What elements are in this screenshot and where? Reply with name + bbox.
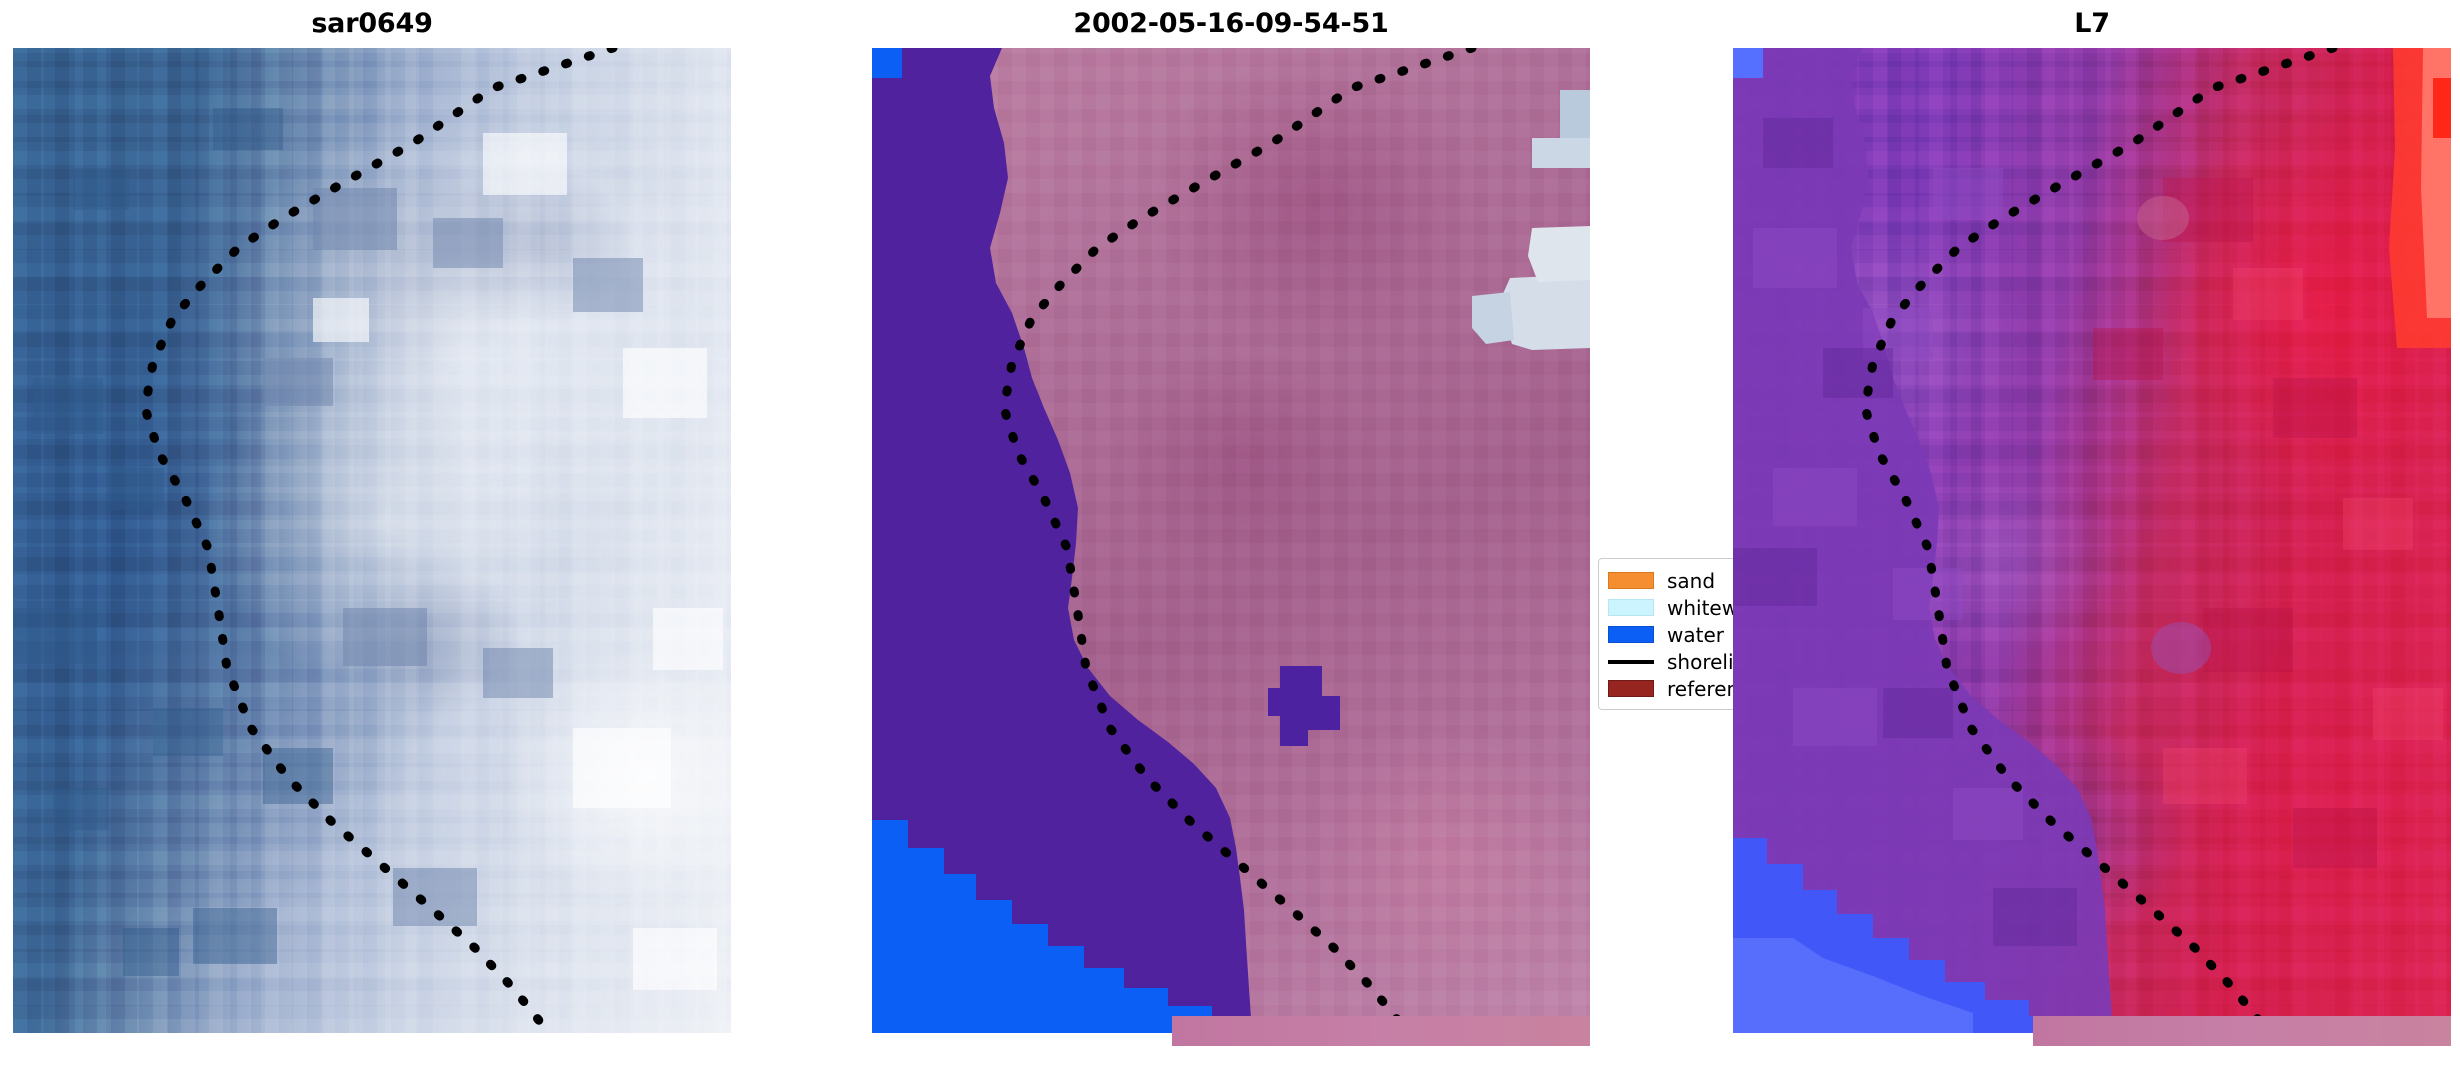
whitewater-swatch bbox=[1608, 599, 1654, 616]
panel-title-l7: L7 bbox=[1733, 8, 2451, 39]
l7-overlay bbox=[1733, 48, 2451, 1033]
sar-water-texture bbox=[13, 48, 731, 1033]
legend-label-sand: sand bbox=[1667, 569, 1715, 593]
l7-image-panel[interactable] bbox=[1733, 48, 2451, 1033]
panel-title-sar: sar0649 bbox=[13, 8, 731, 39]
classification-raster bbox=[872, 48, 1590, 1033]
reference-swatch bbox=[1608, 680, 1654, 697]
panel-title-classification: 2002-05-16-09-54-51 bbox=[872, 8, 1590, 39]
sar-image-panel[interactable] bbox=[13, 48, 731, 1033]
sand-swatch bbox=[1608, 572, 1654, 589]
l7-bottom-strip bbox=[2033, 1016, 2451, 1046]
legend-label-water: water bbox=[1667, 623, 1724, 647]
water-swatch bbox=[1608, 626, 1654, 643]
shoreline-swatch bbox=[1608, 660, 1654, 664]
classification-bottom-strip-outer bbox=[1172, 1016, 1590, 1046]
classification-image-panel[interactable] bbox=[872, 48, 1590, 1033]
